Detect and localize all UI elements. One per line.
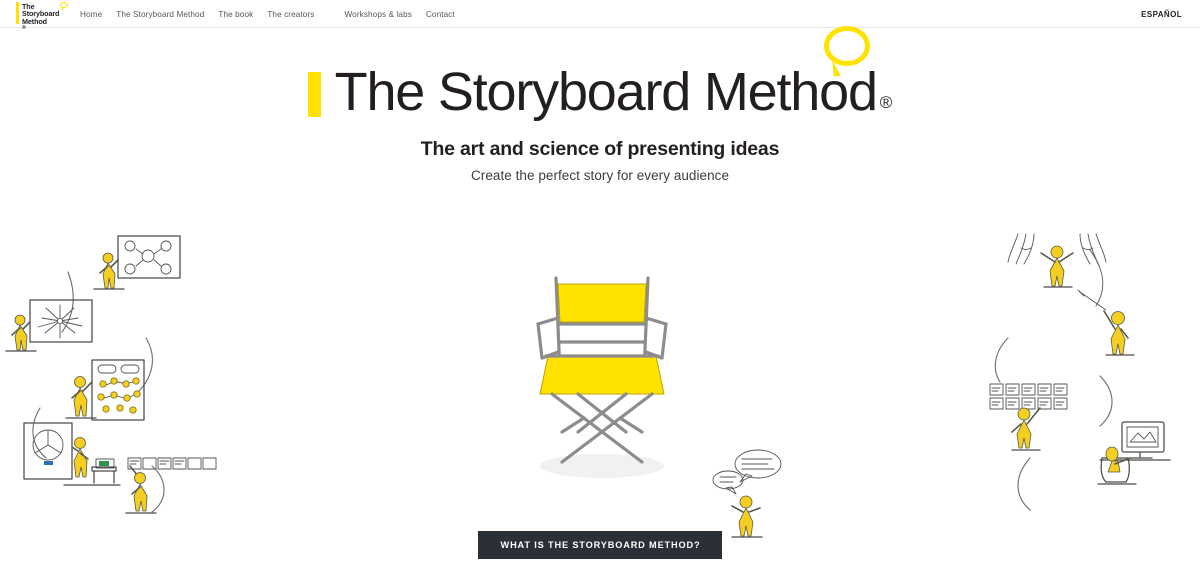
what-is-the-storyboard-method-button[interactable]: WHAT IS THE STORYBOARD METHOD?	[478, 531, 723, 559]
nav-item-the-creators[interactable]: The creators	[267, 10, 314, 19]
top-navigation-bar: The Storyboard Method® Home The Storyboa…	[0, 0, 1200, 28]
nav-item-workshops-labs[interactable]: Workshops & labs	[344, 10, 411, 19]
figure-at-computer-desk	[1098, 422, 1170, 484]
logo-accent-bar	[16, 2, 19, 24]
figure-with-speech-bubbles	[713, 450, 781, 537]
nav-item-the-storyboard-method[interactable]: The Storyboard Method	[116, 10, 204, 19]
figure-with-network-diagram-board	[94, 236, 180, 289]
hero-subtitle: The art and science of presenting ideas	[0, 138, 1200, 161]
figure-with-storyboard-cards	[126, 458, 216, 513]
hero-section: The Storyboard Method ® The art and scie…	[0, 28, 1200, 569]
figure-raising-pencil	[1078, 290, 1134, 355]
right-connector-arcs	[995, 250, 1112, 510]
page-title: The Storyboard Method	[335, 64, 877, 120]
cta-wrap: WHAT IS THE STORYBOARD METHOD?	[0, 531, 1200, 559]
storyboard-card-row	[128, 458, 216, 469]
figure-with-mindmap-board	[6, 300, 92, 351]
directors-chair	[538, 278, 666, 478]
hero-title-row: The Storyboard Method ®	[308, 64, 893, 120]
speech-bubble-icon	[824, 26, 870, 66]
figure-with-poster-board	[66, 360, 144, 420]
figure-with-storyboard-grid	[990, 384, 1067, 450]
site-logo[interactable]: The Storyboard Method®	[16, 2, 59, 26]
figure-with-pie-chart-and-laptop	[24, 423, 120, 485]
hero-tagline: Create the perfect story for every audie…	[0, 168, 1200, 183]
hero-illustration: .ln { fill:none; stroke:#4a4a4a; stroke-…	[0, 228, 1200, 538]
figure-opening-stage-curtains	[1008, 234, 1106, 287]
title-registered-mark: ®	[880, 93, 893, 113]
nav-item-the-book[interactable]: The book	[218, 10, 253, 19]
speech-bubble-icon	[60, 2, 68, 8]
title-accent-bar	[308, 72, 321, 117]
language-switch-espanol[interactable]: ESPAÑOL	[1141, 0, 1182, 28]
hero-title-wrap: The Storyboard Method ®	[0, 28, 1200, 122]
nav-item-home[interactable]: Home	[80, 10, 102, 19]
nav-item-contact[interactable]: Contact	[426, 10, 455, 19]
nav-links: Home The Storyboard Method The book The …	[80, 0, 469, 28]
